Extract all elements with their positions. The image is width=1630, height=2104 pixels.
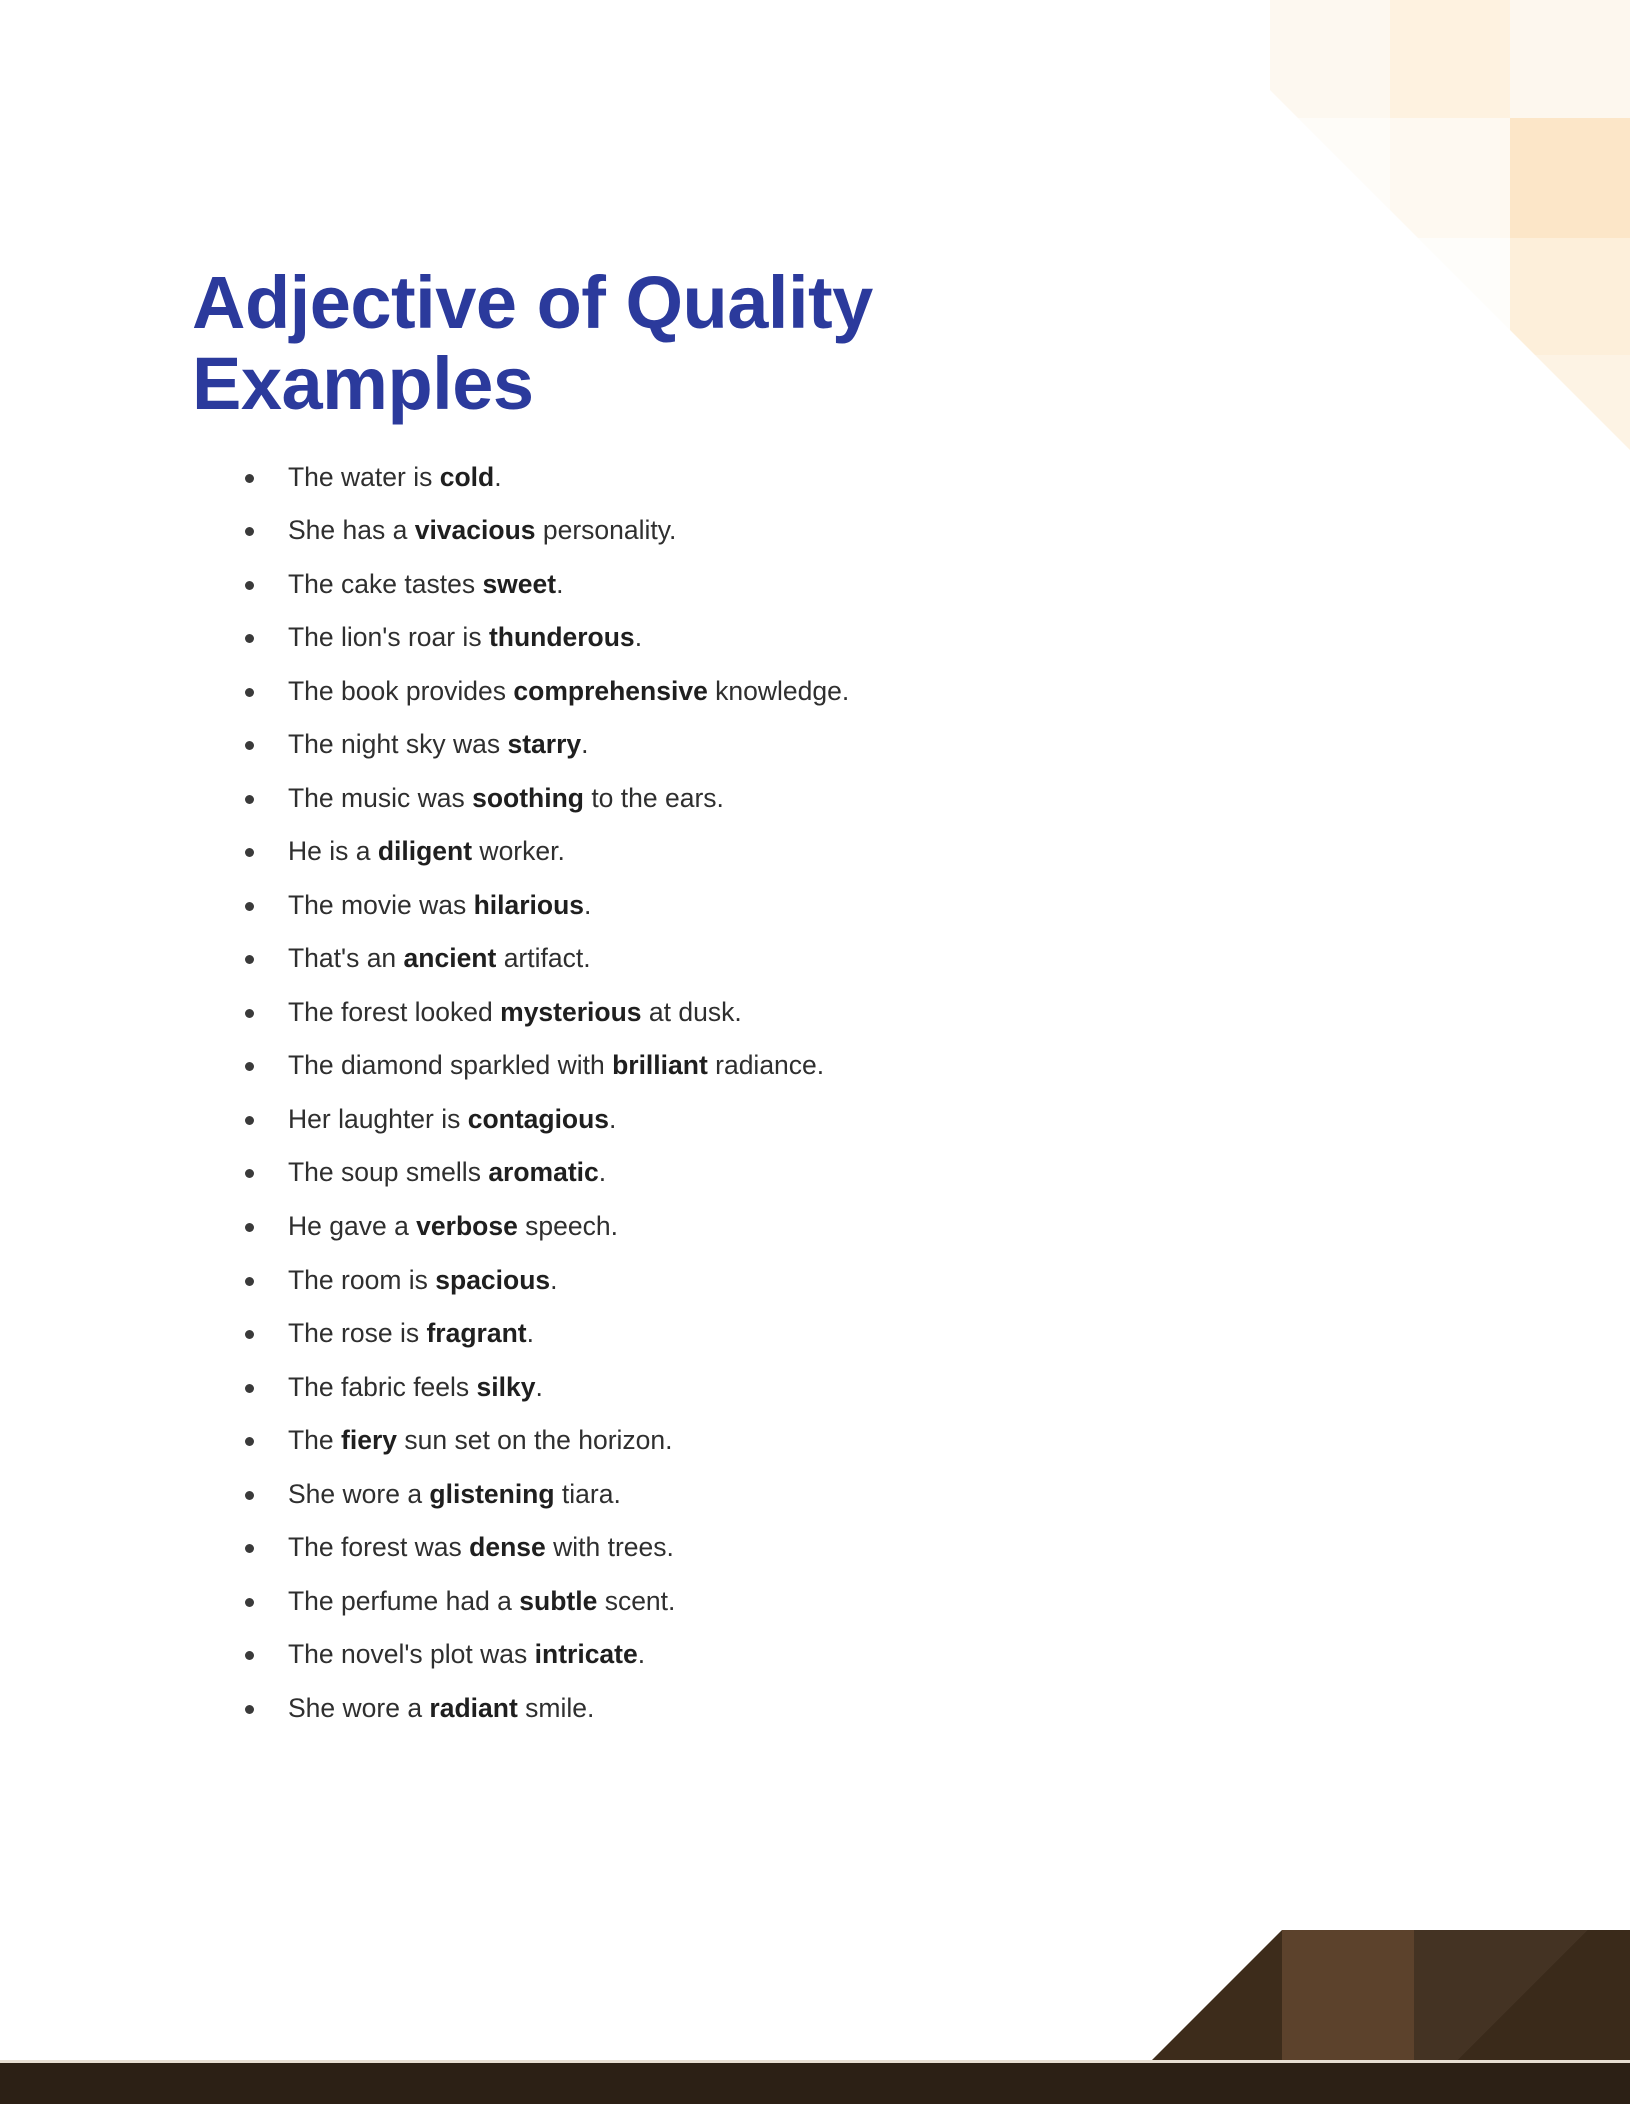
deco-cell <box>1510 118 1630 238</box>
list-item-text: The rose is fragrant. <box>288 1318 534 1348</box>
list-item: She has a vivacious personality. <box>192 514 1372 547</box>
list-item-text: The lion's roar is thunderous. <box>288 622 642 652</box>
bullet-icon <box>245 688 254 697</box>
list-item-text: Her laughter is contagious. <box>288 1104 616 1134</box>
bullet-icon <box>245 1009 254 1018</box>
bullet-icon <box>245 1062 254 1071</box>
list-item-text: He is a diligent worker. <box>288 836 565 866</box>
list-item-text: She wore a glistening tiara. <box>288 1479 621 1509</box>
list-item-text: She wore a radiant smile. <box>288 1693 594 1723</box>
list-item-text: The novel's plot was intricate. <box>288 1639 645 1669</box>
list-item-text: She has a vivacious personality. <box>288 515 676 545</box>
page-title: Adjective of Quality Examples <box>192 262 1132 425</box>
list-item: The water is cold. <box>192 461 1372 494</box>
deco-cell <box>1390 0 1510 118</box>
list-item: The fabric feels silky. <box>192 1371 1372 1404</box>
adjective-examples-list: The water is cold. She has a vivacious p… <box>192 461 1372 1725</box>
list-item: The perfume had a subtle scent. <box>192 1585 1372 1618</box>
list-item-text: The movie was hilarious. <box>288 890 591 920</box>
document-content: Adjective of Quality Examples The water … <box>192 262 1372 1745</box>
list-item-text: The room is spacious. <box>288 1265 558 1295</box>
bullet-icon <box>245 1598 254 1607</box>
bullet-icon <box>245 1277 254 1286</box>
bullet-icon <box>245 848 254 857</box>
list-item: The room is spacious. <box>192 1264 1372 1297</box>
deco-cell <box>1390 238 1510 355</box>
bullet-icon <box>245 581 254 590</box>
list-item-text: The fiery sun set on the horizon. <box>288 1425 673 1455</box>
list-item: The diamond sparkled with brilliant radi… <box>192 1049 1372 1082</box>
list-item: The soup smells aromatic. <box>192 1156 1372 1189</box>
bullet-icon <box>245 1544 254 1553</box>
bullet-icon <box>245 902 254 911</box>
deco-block-right-shade <box>1414 1930 1630 2062</box>
footer-hairline <box>0 2060 1630 2063</box>
list-item-text: He gave a verbose speech. <box>288 1211 618 1241</box>
list-item-text: The night sky was starry. <box>288 729 589 759</box>
document-page: Adjective of Quality Examples The water … <box>0 0 1630 2104</box>
bullet-icon <box>245 741 254 750</box>
bullet-icon <box>245 1705 254 1714</box>
deco-cell <box>1510 355 1630 450</box>
list-item-text: The water is cold. <box>288 462 502 492</box>
bullet-icon <box>245 1651 254 1660</box>
deco-cell <box>1510 0 1630 118</box>
bottom-right-decoration <box>0 1920 1630 2104</box>
bullet-icon <box>245 527 254 536</box>
deco-cell <box>1510 238 1630 355</box>
list-item: The movie was hilarious. <box>192 889 1372 922</box>
list-item: The forest was dense with trees. <box>192 1531 1372 1564</box>
list-item-text: The book provides comprehensive knowledg… <box>288 676 849 706</box>
list-item: The rose is fragrant. <box>192 1317 1372 1350</box>
list-item-text: The perfume had a subtle scent. <box>288 1586 675 1616</box>
list-item-text: The diamond sparkled with brilliant radi… <box>288 1050 824 1080</box>
bullet-icon <box>245 1330 254 1339</box>
list-item: Her laughter is contagious. <box>192 1103 1372 1136</box>
bullet-icon <box>245 795 254 804</box>
list-item: She wore a radiant smile. <box>192 1692 1372 1725</box>
list-item: That's an ancient artifact. <box>192 942 1372 975</box>
bullet-icon <box>245 1491 254 1500</box>
deco-chamfer <box>1150 1930 1282 2062</box>
list-item: He is a diligent worker. <box>192 835 1372 868</box>
list-item: The novel's plot was intricate. <box>192 1638 1372 1671</box>
bullet-icon <box>245 1169 254 1178</box>
list-item: The music was soothing to the ears. <box>192 782 1372 815</box>
bullet-icon <box>245 1116 254 1125</box>
bullet-icon <box>245 634 254 643</box>
footer-bar <box>0 2063 1630 2104</box>
list-item: He gave a verbose speech. <box>192 1210 1372 1243</box>
list-item-text: That's an ancient artifact. <box>288 943 591 973</box>
list-item: She wore a glistening tiara. <box>192 1478 1372 1511</box>
list-item-text: The music was soothing to the ears. <box>288 783 724 813</box>
list-item: The lion's roar is thunderous. <box>192 621 1372 654</box>
deco-cell <box>1390 118 1510 238</box>
list-item-text: The forest looked mysterious at dusk. <box>288 997 742 1027</box>
list-item: The fiery sun set on the horizon. <box>192 1424 1372 1457</box>
bullet-icon <box>245 1437 254 1446</box>
list-item-text: The soup smells aromatic. <box>288 1157 606 1187</box>
bullet-icon <box>245 1223 254 1232</box>
deco-block-right <box>1414 1930 1630 2062</box>
list-item-text: The fabric feels silky. <box>288 1372 543 1402</box>
list-item: The forest looked mysterious at dusk. <box>192 996 1372 1029</box>
list-item: The night sky was starry. <box>192 728 1372 761</box>
bullet-icon <box>245 474 254 483</box>
list-item-text: The cake tastes sweet. <box>288 569 563 599</box>
deco-cell <box>1270 0 1390 118</box>
deco-block-mid <box>1282 1930 1414 2062</box>
list-item-text: The forest was dense with trees. <box>288 1532 674 1562</box>
list-item: The cake tastes sweet. <box>192 568 1372 601</box>
bullet-icon <box>245 1384 254 1393</box>
bullet-icon <box>245 955 254 964</box>
deco-cell <box>1270 118 1390 238</box>
list-item: The book provides comprehensive knowledg… <box>192 675 1372 708</box>
